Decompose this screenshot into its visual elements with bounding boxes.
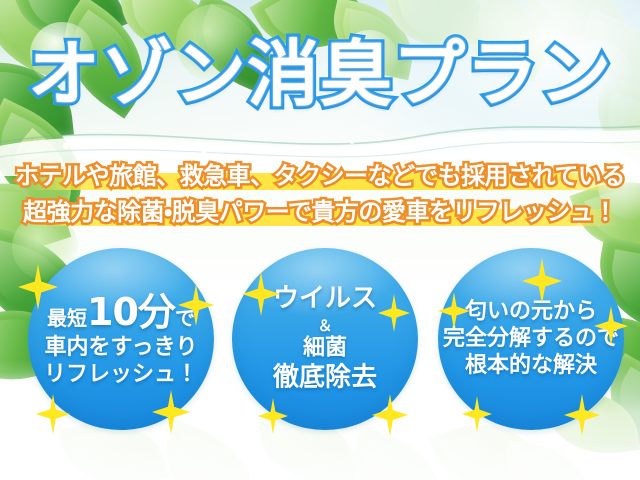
feature-line: 車内をすっきり xyxy=(32,335,210,362)
subtitle-block: ホテルや旅館、救急車、タクシーなどでも採用されている 超強力な除菌・脱臭パワーで… xyxy=(0,160,640,232)
feature-line: 最短10分で xyxy=(32,289,210,335)
feature-line: 細菌 xyxy=(236,336,414,363)
feature-part: 最短 xyxy=(47,306,87,330)
feature-line-emphasis: 徹底除去 xyxy=(236,363,414,395)
subtitle-line-2-text: 超強力な除菌・脱臭パワーで貴方の愛車をリフレッシュ！ xyxy=(23,200,617,224)
subtitle-line-1-text: ホテルや旅館、救急車、タクシーなどでも採用されている xyxy=(15,164,625,188)
feature-circles: 最短10分で 車内をすっきり リフレッシュ！ ウイルス ＆ 細菌 徹底除去 匂い… xyxy=(0,248,640,433)
feature-line: リフレッシュ！ xyxy=(32,362,210,389)
feature-circle-odor: 匂いの元から 完全分解するので 根本的な解決 xyxy=(438,248,624,430)
feature-circle-speed: 最短10分で 車内をすっきり リフレッシュ！ xyxy=(28,248,214,430)
feature-line-ampersand: ＆ xyxy=(236,315,414,335)
feature-line: 根本的な解決 xyxy=(442,352,620,379)
promo-banner: オゾン消臭プラン ホテルや旅館、救急車、タクシーなどでも採用されている 超強力な… xyxy=(0,0,640,480)
banner-headline: オゾン消臭プラン xyxy=(0,38,640,110)
feature-part-emphasis: 10分 xyxy=(87,289,175,335)
feature-part: で xyxy=(175,306,195,330)
subtitle-line: ホテルや旅館、救急車、タクシーなどでも採用されている xyxy=(0,160,640,192)
feature-line: 匂いの元から xyxy=(442,299,620,326)
banner-headline-text: オゾン消臭プラン xyxy=(28,32,612,116)
subtitle-line: 超強力な除菌・脱臭パワーで貴方の愛車をリフレッシュ！ xyxy=(0,196,640,228)
feature-line: 完全分解するので xyxy=(442,326,620,353)
